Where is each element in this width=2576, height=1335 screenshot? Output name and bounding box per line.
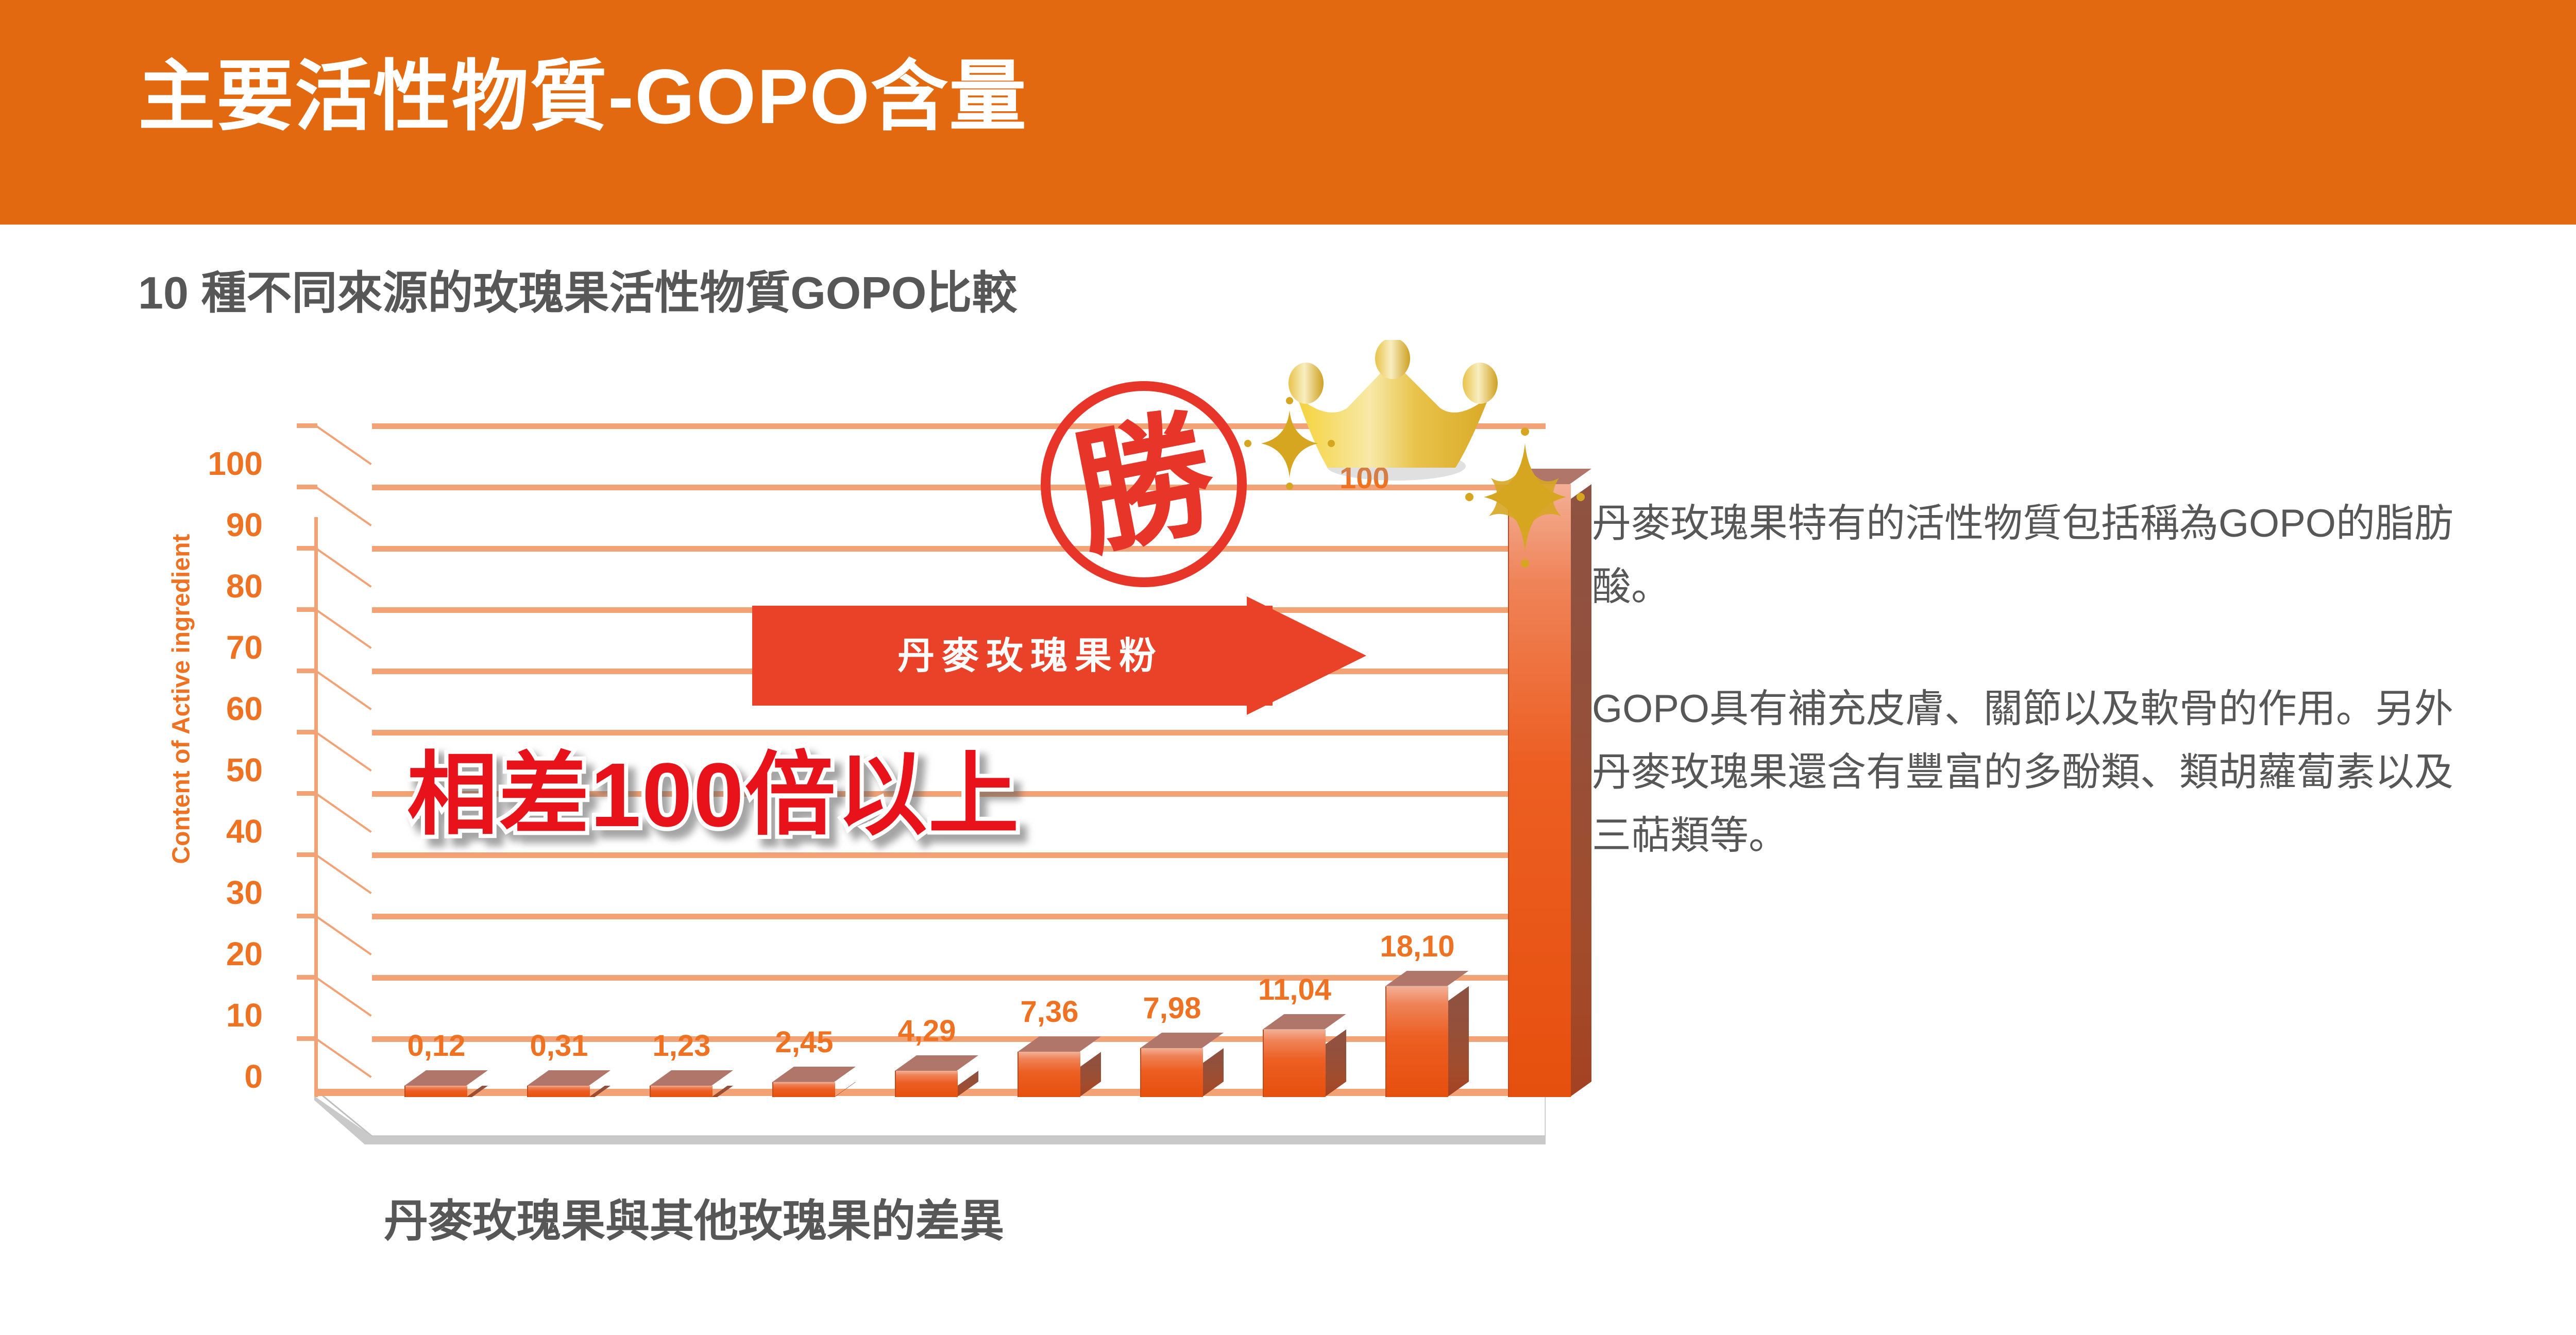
comparison-headline: 相差100倍以上: [407, 721, 1020, 852]
y-axis-tick-labels: 0102030405060708090100: [170, 464, 263, 1076]
y-tickmark-20: [297, 914, 317, 918]
bar-4: [772, 1082, 834, 1097]
danish-rosehip-arrow: 丹麥玫瑰果粉: [752, 596, 1365, 715]
bar-label-5: 4,29: [875, 1014, 978, 1048]
gridline-connector-60: [313, 669, 372, 710]
y-tick-0: 0: [170, 1060, 263, 1093]
bar-label-1: 0,12: [385, 1029, 488, 1063]
gridline-20: [372, 914, 1546, 919]
bar-front: [1263, 1030, 1326, 1097]
bar-top: [895, 1055, 978, 1071]
gridline-connector-20: [313, 914, 372, 955]
y-tick-40: 40: [170, 815, 263, 848]
paragraph-2: GOPO具有補充皮膚、關節以及軟骨的作用。另外丹麥玫瑰果還含有豐富的多酚類、類胡…: [1592, 677, 2468, 867]
gridline-10: [372, 975, 1546, 981]
bar-side: [1570, 484, 1591, 1097]
gridline-connector-90: [313, 485, 372, 526]
bar-top: [772, 1067, 856, 1082]
y-tickmark-60: [297, 669, 317, 673]
bar-top: [404, 1070, 488, 1086]
bar-front: [1018, 1052, 1080, 1097]
y-tickmark-0: [297, 1036, 317, 1041]
y-tick-20: 20: [170, 937, 263, 970]
bar-front: [1385, 986, 1448, 1097]
y-tick-90: 90: [170, 508, 263, 541]
bar-front: [650, 1086, 713, 1097]
y-tick-50: 50: [170, 754, 263, 786]
bar-label-9: 18,10: [1366, 929, 1469, 964]
y-axis-line: [314, 517, 318, 1097]
page-title: 主要活性物質-GOPO含量: [138, 58, 1027, 135]
bar-top: [1385, 971, 1469, 986]
bar-7: [1140, 1048, 1202, 1097]
bar-6: [1018, 1052, 1079, 1097]
sparkle-icon-right: [1463, 422, 1587, 572]
y-tick-10: 10: [170, 999, 263, 1032]
gridline-connector-0: [313, 1036, 372, 1078]
gridline-connector-100: [313, 423, 372, 465]
gridline-connector-10: [313, 975, 372, 1017]
gridline-connector-50: [313, 730, 372, 772]
bar-2: [527, 1086, 589, 1097]
bar-label-8: 11,04: [1243, 972, 1346, 1007]
bar-front: [527, 1086, 590, 1097]
bar-front: [404, 1086, 467, 1097]
bar-10: [1508, 484, 1570, 1097]
y-tickmark-50: [297, 730, 317, 734]
bar-3: [650, 1086, 711, 1097]
bar-label-7: 7,98: [1121, 991, 1224, 1025]
y-tick-30: 30: [170, 876, 263, 909]
win-stamp-icon: 勝: [1041, 381, 1247, 587]
gridline-30: [372, 852, 1546, 858]
bar-1: [404, 1086, 466, 1097]
y-tickmark-40: [297, 791, 317, 796]
chart-caption: 丹麥玫瑰果與其他玫瑰果的差異: [384, 1185, 1004, 1249]
arrow-label: 丹麥玫瑰果粉: [809, 625, 1252, 679]
y-tickmark-30: [297, 852, 317, 857]
gridline-connector-80: [313, 546, 372, 588]
bar-9: [1385, 986, 1447, 1097]
gridline-connector-40: [313, 791, 372, 833]
y-tickmark-80: [297, 546, 317, 551]
bar-label-2: 0,31: [507, 1029, 611, 1063]
y-tickmark-10: [297, 975, 317, 980]
stamp-character: 勝: [1035, 375, 1253, 593]
bar-8: [1263, 1030, 1325, 1097]
y-tick-80: 80: [170, 570, 263, 603]
y-tick-60: 60: [170, 692, 263, 725]
y-tickmark-100: [297, 423, 317, 428]
bar-front: [1140, 1048, 1203, 1097]
bar-front: [895, 1071, 958, 1097]
arrow-head-icon: [1247, 596, 1366, 715]
chart-subtitle: 10 種不同來源的玫瑰果活性物質GOPO比較: [138, 256, 1017, 322]
bar-side: [1447, 986, 1469, 1097]
y-tick-100: 100: [170, 447, 263, 480]
y-tick-70: 70: [170, 631, 263, 664]
gridline-connector-70: [313, 607, 372, 649]
paragraph-1: 丹麥玫瑰果特有的活性物質包括稱為GOPO的脂肪酸。: [1592, 492, 2468, 619]
bar-5: [895, 1071, 957, 1097]
header-bar: 主要活性物質-GOPO含量: [0, 0, 2576, 225]
description-panel: 丹麥玫瑰果特有的活性物質包括稱為GOPO的脂肪酸。 GOPO具有補充皮膚、關節以…: [1592, 492, 2468, 927]
bar-front: [1508, 484, 1571, 1097]
bar-top: [527, 1070, 611, 1086]
chart-floor: [314, 1089, 1546, 1150]
bar-top: [650, 1070, 733, 1086]
bar-label-3: 1,23: [630, 1029, 733, 1063]
bar-label-4: 2,45: [753, 1025, 856, 1059]
y-tickmark-70: [297, 607, 317, 612]
bar-front: [772, 1082, 835, 1097]
gridline-connector-30: [313, 852, 372, 894]
bar-top: [1140, 1033, 1224, 1048]
sparkle-icon-left: [1241, 396, 1338, 493]
gridline-80: [372, 546, 1546, 552]
y-tickmark-90: [297, 485, 317, 489]
bar-top: [1263, 1014, 1346, 1030]
bar-label-6: 7,36: [998, 995, 1101, 1029]
